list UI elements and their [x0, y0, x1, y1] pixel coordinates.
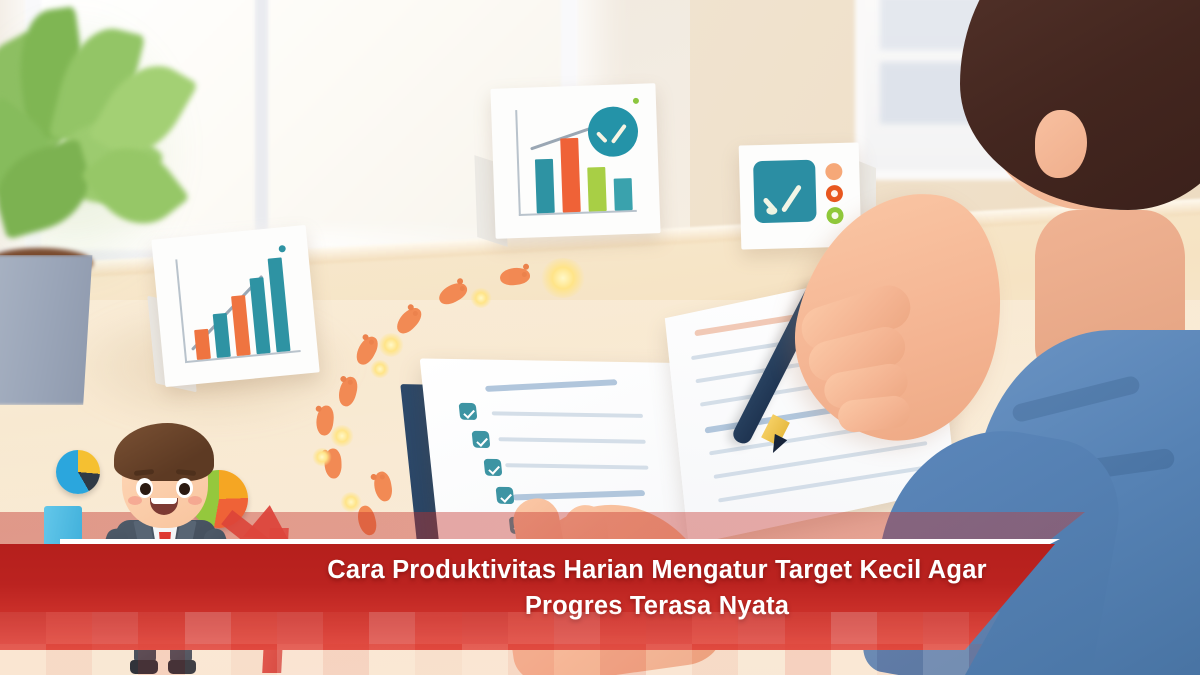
sparkle [330, 425, 354, 447]
checkbox-4[interactable] [496, 487, 515, 504]
chart-dot-icon [633, 98, 639, 104]
mosaic-block [92, 644, 138, 675]
mosaic-block [369, 644, 415, 675]
mosaic-block [138, 612, 184, 644]
mosaic-block [600, 612, 646, 644]
banner-divider [60, 539, 1060, 544]
status-dot-peach [825, 163, 842, 180]
mosaic-block [923, 612, 969, 644]
bar-1 [194, 329, 211, 360]
check-tile-accent [766, 207, 777, 215]
mosaic-block [646, 644, 692, 675]
mosaic-block [46, 612, 92, 644]
mosaic-block [877, 612, 923, 644]
bar-chart-check-tent-card [490, 83, 660, 239]
sparkle [470, 288, 492, 308]
checkbox-2[interactable] [472, 431, 491, 448]
sparkle [312, 448, 332, 466]
mosaic-block [785, 644, 831, 675]
mosaic-block [462, 644, 508, 675]
mosaic-block [323, 612, 369, 644]
mosaic-block [831, 612, 877, 644]
mosaic-block [738, 612, 784, 644]
mosaic-block [415, 644, 461, 675]
checkbox-1[interactable] [459, 403, 478, 420]
cheek-left [128, 496, 142, 505]
sparkle [340, 492, 362, 512]
mosaic-block [923, 644, 969, 675]
bar-5 [268, 257, 291, 352]
pie-small-top [56, 450, 100, 494]
article-thumbnail: Cara Produktivitas Harian Mengatur Targe… [0, 0, 1200, 675]
mosaic-block [692, 644, 738, 675]
mosaic-block [138, 644, 184, 675]
bar-3 [587, 167, 607, 212]
bar-3 [231, 295, 251, 356]
page-title-line-1: Cara Produktivitas Harian Mengatur Targe… [262, 552, 1052, 588]
checkbox-3[interactable] [484, 459, 503, 476]
mosaic-block [508, 612, 554, 644]
eye-right [176, 478, 193, 498]
mosaic-block [185, 644, 231, 675]
mosaic-block [46, 644, 92, 675]
mosaic-block [692, 612, 738, 644]
mosaic-block [554, 612, 600, 644]
mosaic-block [231, 612, 277, 644]
cheek-right [188, 496, 202, 505]
chart-dot-icon [278, 245, 286, 253]
mosaic-block [185, 612, 231, 644]
status-dot-orange [826, 185, 843, 202]
mosaic-block [277, 612, 323, 644]
mosaic-block [600, 644, 646, 675]
mosaic-block [92, 612, 138, 644]
mosaic-block [646, 612, 692, 644]
mascot-teeth [151, 498, 177, 504]
mosaic-block [231, 644, 277, 675]
bar-4 [614, 178, 633, 211]
mosaic-block [462, 612, 508, 644]
mosaic-block [415, 612, 461, 644]
mosaic-block [785, 612, 831, 644]
bar-chart-tent-card [151, 225, 319, 387]
status-dot-green [826, 207, 843, 224]
window-mullion [255, 0, 268, 260]
mascot-hair [114, 423, 214, 481]
sparkle [540, 258, 586, 298]
bar-2 [560, 138, 581, 213]
check-tile [753, 160, 817, 224]
bar-2 [213, 313, 231, 358]
mosaic-block [738, 644, 784, 675]
mosaic-block [0, 644, 46, 675]
mosaic-block [0, 612, 46, 644]
mosaic-block [508, 644, 554, 675]
mosaic-block [831, 644, 877, 675]
bar-1 [535, 159, 555, 214]
mosaic-block [277, 644, 323, 675]
eye-left [136, 478, 153, 498]
mosaic-block [877, 644, 923, 675]
check-circle-icon [587, 106, 639, 158]
mosaic-block [369, 612, 415, 644]
mosaic-block [554, 644, 600, 675]
sparkle [370, 360, 390, 378]
bar-4 [249, 277, 270, 354]
mosaic-block [323, 644, 369, 675]
sparkle [378, 333, 404, 357]
